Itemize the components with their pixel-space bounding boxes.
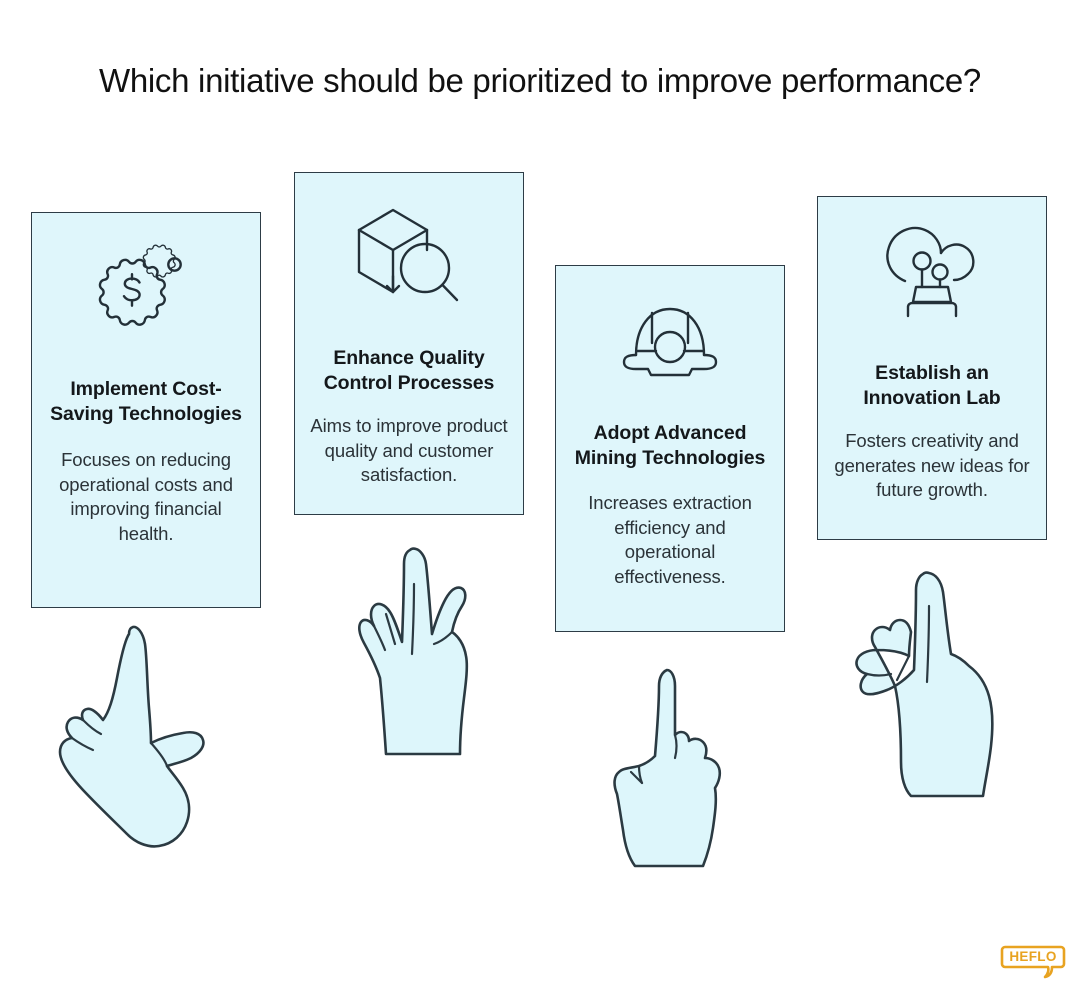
- card-title: Implement Cost-Saving Technologies: [46, 377, 246, 427]
- card-title: Establish an Innovation Lab: [832, 361, 1032, 411]
- heflo-logo[interactable]: HEFLO: [1000, 944, 1066, 985]
- pointing-hand-fist: [609, 662, 733, 877]
- mining-helmet-icon: [618, 299, 722, 379]
- initiative-card-quality-control[interactable]: Enhance Quality Control Processes Aims t…: [294, 172, 524, 515]
- initiative-card-mining-tech[interactable]: Adopt Advanced Mining Technologies Incre…: [555, 265, 785, 632]
- initiative-card-cost-saving[interactable]: Implement Cost-Saving Technologies Focus…: [31, 212, 261, 608]
- pointing-hand-thumb-out: [851, 562, 1003, 805]
- card-body: Fosters creativity and generates new ide…: [832, 429, 1032, 503]
- logo-text: HEFLO: [1002, 948, 1064, 966]
- initiative-card-innovation-lab[interactable]: Establish an Innovation Lab Fosters crea…: [817, 196, 1047, 540]
- pointing-hand-upright: [356, 538, 486, 765]
- card-body: Aims to improve product quality and cust…: [309, 414, 509, 488]
- gears-dollar-icon: [94, 241, 198, 333]
- card-title: Adopt Advanced Mining Technologies: [570, 421, 770, 471]
- innovation-tree-icon: [880, 219, 984, 319]
- pointing-hand-tilted: [55, 612, 215, 862]
- card-body: Focuses on reducing operational costs an…: [46, 448, 246, 546]
- card-title: Enhance Quality Control Processes: [309, 346, 509, 396]
- page-title: Which initiative should be prioritized t…: [0, 62, 1080, 100]
- cube-magnifier-icon: [349, 206, 469, 310]
- card-body: Increases extraction efficiency and oper…: [570, 491, 770, 589]
